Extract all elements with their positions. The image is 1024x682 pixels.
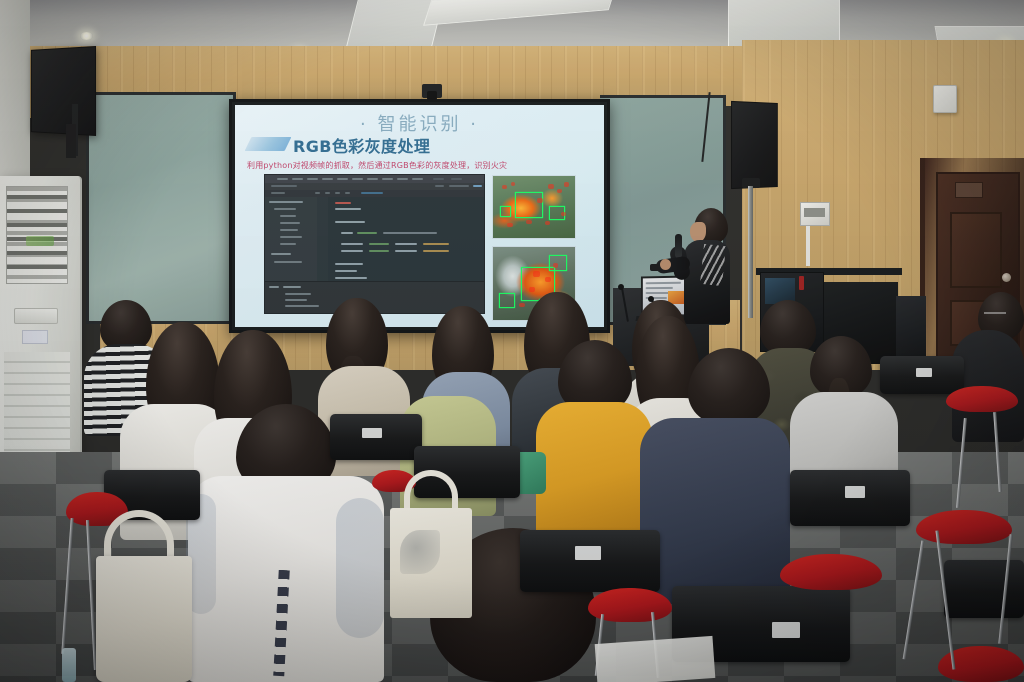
wall-control-display	[804, 208, 825, 217]
wall-sensor-box	[933, 85, 957, 113]
python-ide-screenshot	[264, 174, 485, 314]
chair-tag	[772, 622, 800, 638]
glasses-icon	[984, 312, 1006, 317]
paper-sheet	[595, 636, 716, 682]
door-vision-plate	[955, 182, 983, 198]
ceiling-light	[80, 32, 93, 40]
wall-control-conduit	[806, 226, 810, 266]
ac-brand-logo	[26, 236, 54, 246]
ide-tabbar	[265, 190, 484, 197]
water-bottle	[62, 648, 76, 682]
ac-control-panel[interactable]	[14, 308, 58, 324]
lecture-hall-photo: · 智能识别 · RGB色彩灰度处理 利用python对视频帧的抓取，然后通过R…	[0, 0, 1024, 682]
ac-vent-grille	[6, 186, 68, 284]
slide-subtitle: RGB色彩灰度处理	[293, 133, 430, 157]
chair-tag	[575, 546, 601, 560]
audience-body-yellow	[536, 402, 652, 538]
chair-back	[944, 560, 1024, 618]
presenter-face	[690, 222, 706, 242]
ac-label-sticker	[22, 330, 48, 344]
door-knob[interactable]	[1002, 273, 1011, 282]
slide-body-text: 利用python对视频帧的抓取，然后通过RGB色彩的灰度处理，识别火灾	[247, 160, 507, 171]
wall-speaker-right	[731, 101, 778, 189]
ide-code-area	[317, 197, 484, 281]
chair-seat	[780, 554, 882, 590]
equipment-rack	[896, 296, 926, 362]
fire-detection-image-forest	[492, 175, 576, 239]
chair-tag	[362, 428, 382, 438]
slide-ribbon-decoration	[245, 137, 292, 151]
wall-speaker-left	[31, 46, 96, 136]
glass-whiteboard	[86, 92, 236, 324]
ide-project-tree	[265, 197, 317, 281]
tote-bag	[390, 508, 472, 618]
presenter-jacket-stripes	[700, 244, 726, 286]
chair-tag	[916, 368, 932, 377]
presenter-hand	[660, 259, 671, 270]
rack-indicator	[799, 276, 804, 290]
ide-menubar	[265, 175, 484, 183]
jacket-shoulder-shadow	[336, 498, 384, 638]
audience-body-navy	[640, 418, 790, 604]
handheld-microphone	[675, 234, 682, 258]
chair-back	[790, 470, 910, 526]
speaker-stand-pole	[748, 186, 753, 318]
chair-seat	[946, 386, 1018, 412]
chair-back	[520, 530, 660, 592]
tote-bag	[96, 556, 192, 682]
chair-tag	[845, 486, 865, 498]
speaker-mount-arm	[66, 124, 76, 158]
tote-bag-print	[400, 530, 440, 574]
camera-lens-icon	[427, 91, 437, 100]
ide-toolbar	[265, 183, 484, 190]
microphone-head-icon	[618, 284, 624, 290]
door-inset-panel	[950, 212, 1002, 288]
ide-line-gutter	[317, 197, 328, 281]
chair-seat	[916, 510, 1012, 544]
